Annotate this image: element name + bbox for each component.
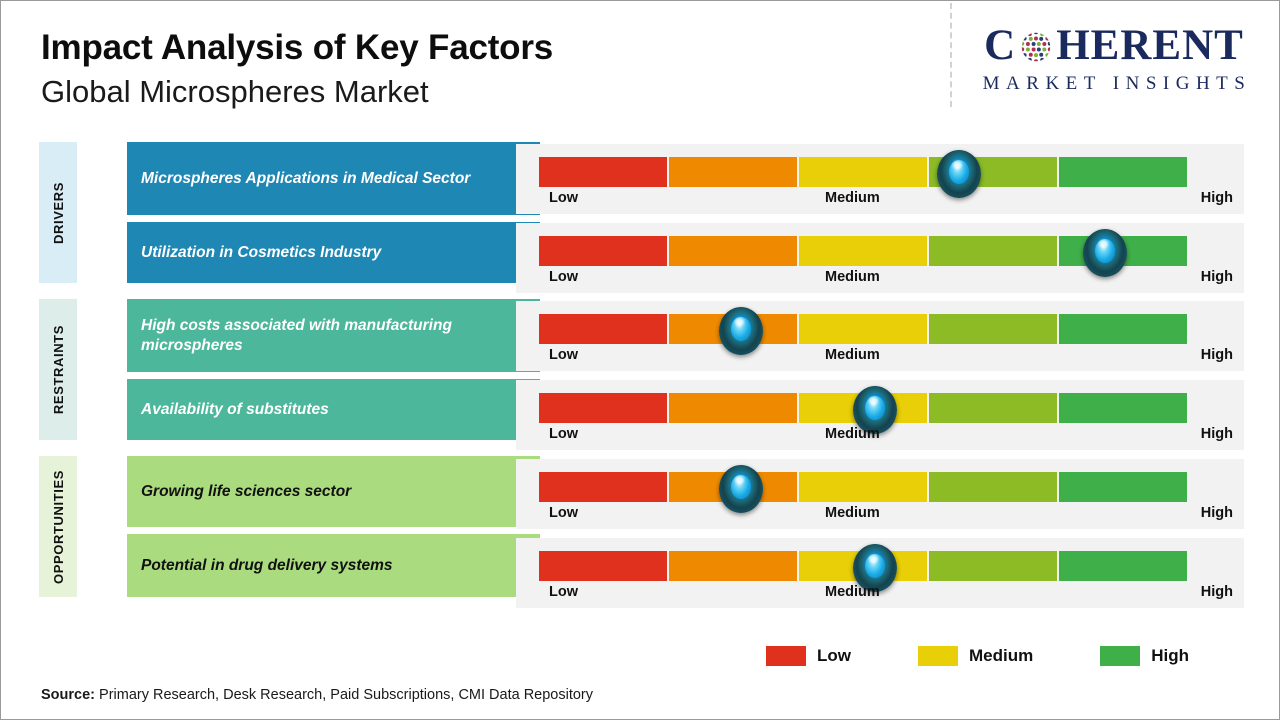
gauge-segment-med-high [929, 314, 1057, 344]
gauge-segment-medium [799, 314, 927, 344]
logo-tagline: MARKET INSIGHTS [964, 73, 1264, 95]
gauge-row-5: Low Medium High [516, 459, 1244, 529]
legend: Low Medium High [766, 646, 1189, 666]
scale-label-medium: Medium [825, 347, 880, 363]
gauge-segment-med-high [929, 551, 1057, 581]
scale-label-medium: Medium [825, 426, 880, 442]
scale-label-high: High [1201, 269, 1233, 285]
gauge-segment-med-high [929, 393, 1057, 423]
legend-label-high: High [1151, 646, 1189, 666]
scale-label-low: Low [549, 269, 578, 285]
gauge-track-1[interactable] [539, 157, 1187, 187]
factor-label-4: Availability of substitutes [141, 400, 329, 420]
gauge-scale-3: Low Medium High [539, 347, 1233, 369]
factor-box-1[interactable]: Microspheres Applications in Medical Sec… [127, 142, 540, 215]
scale-label-medium: Medium [825, 190, 880, 206]
gauge-segment-low-med [669, 157, 797, 187]
factor-label-1: Microspheres Applications in Medical Sec… [141, 169, 470, 189]
scale-label-high: High [1201, 190, 1233, 206]
scale-label-low: Low [549, 190, 578, 206]
gauge-segment-low [539, 236, 667, 266]
gauge-segment-low [539, 551, 667, 581]
gauge-segment-high [1059, 472, 1187, 502]
source-label: Source: [41, 687, 95, 703]
legend-swatch-low [766, 646, 806, 666]
scale-label-high: High [1201, 505, 1233, 521]
page-subtitle: Global Microspheres Market [41, 73, 901, 110]
source-text: Primary Research, Desk Research, Paid Su… [99, 687, 593, 703]
gauge-segment-low [539, 157, 667, 187]
legend-item-medium: Medium [918, 646, 1033, 666]
gauge-segment-high [1059, 551, 1187, 581]
gauge-segment-medium [799, 472, 927, 502]
gauge-row-6: Low Medium High [516, 538, 1244, 608]
gauge-segment-low-med [669, 236, 797, 266]
scale-label-medium: Medium [825, 505, 880, 521]
scale-label-low: Low [549, 347, 578, 363]
logo-letters-herent: HERENT [1056, 24, 1244, 67]
legend-label-medium: Medium [969, 646, 1033, 666]
logo-letter-c: C [984, 24, 1016, 67]
category-rail-restraints: RESTRAINTS [39, 299, 77, 440]
legend-item-high: High [1100, 646, 1189, 666]
factor-label-2: Utilization in Cosmetics Industry [141, 243, 381, 263]
legend-swatch-high [1100, 646, 1140, 666]
gauge-segment-high [1059, 157, 1187, 187]
gauge-scale-6: Low Medium High [539, 584, 1233, 606]
scale-label-high: High [1201, 584, 1233, 600]
gauge-scale-2: Low Medium High [539, 269, 1233, 291]
gauge-segment-high [1059, 314, 1187, 344]
factor-box-5[interactable]: Growing life sciences sector [127, 456, 540, 527]
factor-label-3: High costs associated with manufacturing… [141, 316, 526, 356]
gauge-row-3: Low Medium High [516, 301, 1244, 371]
gauge-segment-low-med [669, 393, 797, 423]
category-label-opportunities: OPPORTUNITIES [51, 470, 66, 584]
gauge-row-4: Low Medium High [516, 380, 1244, 450]
legend-swatch-medium [918, 646, 958, 666]
scale-label-medium: Medium [825, 584, 880, 600]
title-block: Impact Analysis of Key Factors Global Mi… [41, 29, 901, 110]
gauge-segment-low [539, 472, 667, 502]
factor-label-6: Potential in drug delivery systems [141, 556, 393, 576]
legend-item-low: Low [766, 646, 851, 666]
gauge-segment-low-med [669, 551, 797, 581]
scale-label-low: Low [549, 426, 578, 442]
gauge-segment-med-high [929, 472, 1057, 502]
gauge-segment-low [539, 314, 667, 344]
gauge-segment-high [1059, 393, 1187, 423]
category-rail-drivers: DRIVERS [39, 142, 77, 283]
scale-label-low: Low [549, 584, 578, 600]
factor-box-2[interactable]: Utilization in Cosmetics Industry [127, 222, 540, 283]
category-label-restraints: RESTRAINTS [51, 325, 66, 414]
header-dashed-divider [950, 3, 952, 107]
gauge-scale-1: Low Medium High [539, 190, 1233, 212]
page-title: Impact Analysis of Key Factors [41, 29, 901, 67]
slide-canvas: Impact Analysis of Key Factors Global Mi… [0, 0, 1280, 720]
gauge-scale-4: Low Medium High [539, 426, 1233, 448]
scale-label-low: Low [549, 505, 578, 521]
gauge-row-2: Low Medium High [516, 223, 1244, 293]
gauge-segment-medium [799, 236, 927, 266]
factor-box-6[interactable]: Potential in drug delivery systems [127, 534, 540, 597]
company-logo: C [964, 21, 1264, 99]
category-label-drivers: DRIVERS [51, 182, 66, 244]
globe-icon [1017, 28, 1055, 66]
gauge-track-5[interactable] [539, 472, 1187, 502]
gauge-scale-5: Low Medium High [539, 505, 1233, 527]
factor-box-4[interactable]: Availability of substitutes [127, 379, 540, 440]
legend-label-low: Low [817, 646, 851, 666]
scale-label-high: High [1201, 426, 1233, 442]
factor-label-5: Growing life sciences sector [141, 482, 351, 502]
category-rail-opportunities: OPPORTUNITIES [39, 456, 77, 597]
gauge-row-1: Low Medium High [516, 144, 1244, 214]
gauge-track-3[interactable] [539, 314, 1187, 344]
scale-label-high: High [1201, 347, 1233, 363]
gauge-segment-low [539, 393, 667, 423]
scale-label-medium: Medium [825, 269, 880, 285]
gauge-segment-medium [799, 157, 927, 187]
factor-box-3[interactable]: High costs associated with manufacturing… [127, 299, 540, 372]
logo-wordmark: C [964, 21, 1264, 69]
gauge-segment-med-high [929, 236, 1057, 266]
source-note: Source: Primary Research, Desk Research,… [41, 687, 593, 703]
